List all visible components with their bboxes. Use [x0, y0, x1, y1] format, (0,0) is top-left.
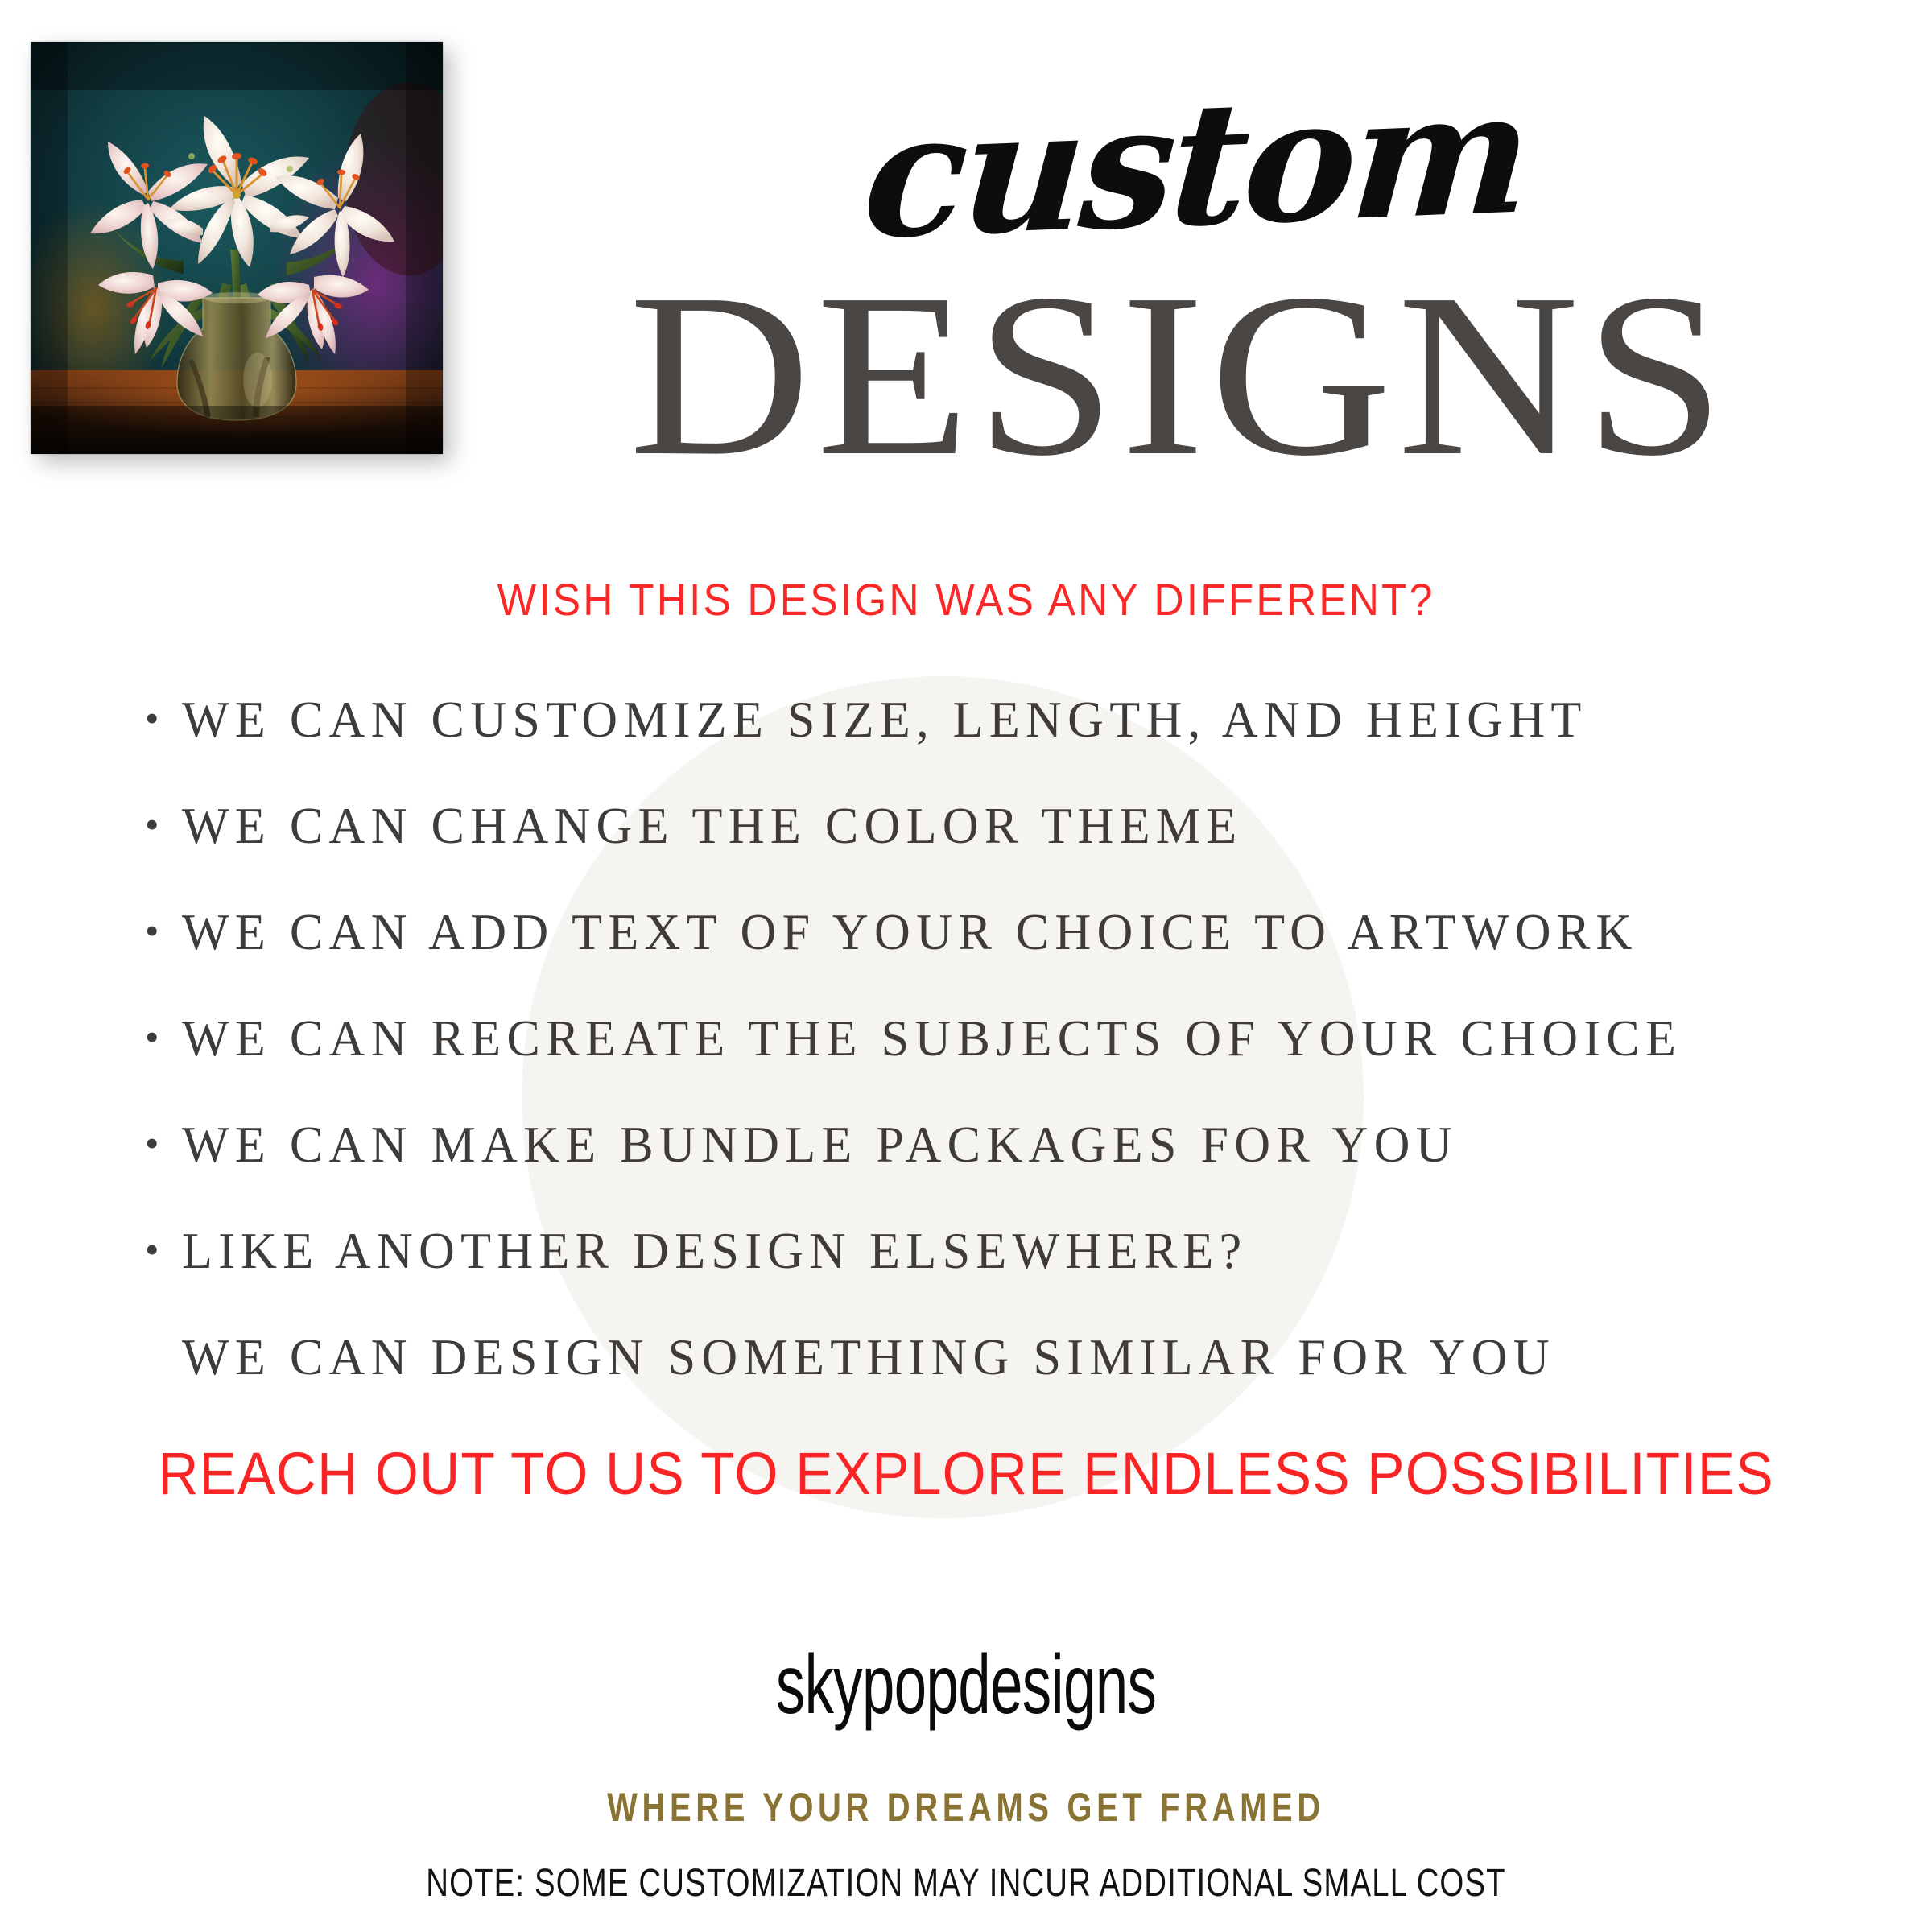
list-item: • LIKE ANOTHER DESIGN ELSEWHERE? — [145, 1225, 1851, 1331]
call-to-action-text: REACH OUT TO US TO EXPLORE ENDLESS POSSI… — [58, 1439, 1874, 1508]
list-item-continuation-label: WE CAN DESIGN SOMETHING SIMILAR FOR YOU — [182, 1331, 1555, 1383]
list-item: • WE CAN RECREATE THE SUBJECTS OF YOUR C… — [145, 1013, 1851, 1119]
list-item-label: WE CAN CUSTOMIZE SIZE, LENGTH, AND HEIGH… — [182, 694, 1587, 745]
headline-group: custom DESIGNS — [451, 80, 1908, 486]
bullet-dot-icon: • — [145, 910, 182, 951]
brand-tagline: WHERE YOUR DREAMS GET FRAMED — [193, 1784, 1739, 1831]
page-title-script: custom — [859, 68, 1531, 262]
list-item-label: WE CAN CHANGE THE COLOR THEME — [182, 800, 1242, 852]
list-item-label: WE CAN RECREATE THE SUBJECTS OF YOUR CHO… — [182, 1013, 1682, 1064]
bullet-dot-icon: • — [145, 1229, 182, 1269]
capabilities-list: • WE CAN CUSTOMIZE SIZE, LENGTH, AND HEI… — [145, 694, 1851, 1431]
lilies-still-life-image — [31, 42, 443, 454]
custom-designs-poster: custom DESIGNS WISH THIS DESIGN WAS ANY … — [0, 0, 1932, 1932]
list-item: • WE CAN CHANGE THE COLOR THEME — [145, 800, 1851, 906]
bullet-dot-icon: • — [145, 1017, 182, 1057]
footer-note: NOTE: SOME CUSTOMIZATION MAY INCUR ADDIT… — [193, 1861, 1739, 1905]
brand-logo-text: skypopdesigns — [290, 1637, 1642, 1733]
list-item: • WE CAN CUSTOMIZE SIZE, LENGTH, AND HEI… — [145, 694, 1851, 800]
list-item-label: WE CAN MAKE BUNDLE PACKAGES FOR YOU — [182, 1119, 1458, 1170]
list-item: • WE CAN ADD TEXT OF YOUR CHOICE TO ARTW… — [145, 906, 1851, 1013]
bullet-dot-icon: • — [145, 698, 182, 738]
list-item: • WE CAN MAKE BUNDLE PACKAGES FOR YOU — [145, 1119, 1851, 1225]
page-title-main: DESIGNS — [393, 264, 1932, 486]
bullet-dot-icon: • — [145, 804, 182, 844]
list-item-continuation: WE CAN DESIGN SOMETHING SIMILAR FOR YOU — [145, 1331, 1851, 1431]
list-item-label: WE CAN ADD TEXT OF YOUR CHOICE TO ARTWOR… — [182, 906, 1638, 958]
bullet-dot-icon: • — [145, 1123, 182, 1163]
subheading-question: WISH THIS DESIGN WAS ANY DIFFERENT? — [77, 573, 1855, 625]
artwork-thumbnail[interactable] — [31, 42, 443, 454]
list-item-label: LIKE ANOTHER DESIGN ELSEWHERE? — [182, 1225, 1247, 1277]
